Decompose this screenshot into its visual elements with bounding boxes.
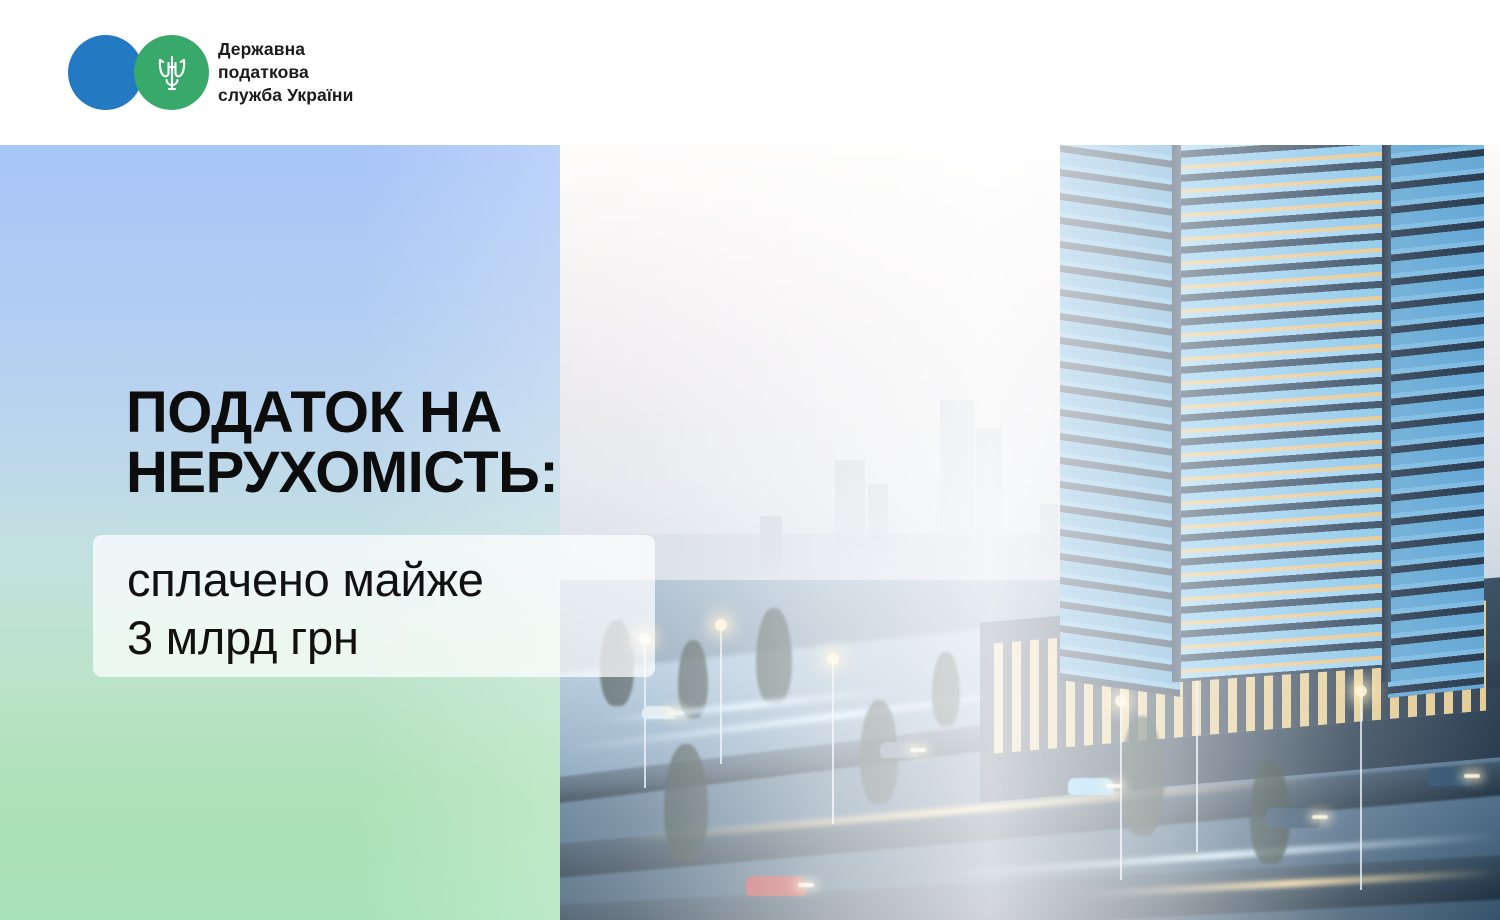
ukraine-trident-icon (155, 51, 189, 95)
glass-tower (1060, 62, 1480, 682)
car (1428, 768, 1472, 786)
tower-face-left (1060, 80, 1180, 697)
street-light (1196, 652, 1198, 852)
tower-corner-edge (1172, 62, 1181, 682)
tree (932, 652, 960, 726)
header-bar: Державна податкова служба України (0, 0, 1500, 145)
agency-name: Державна податкова служба України (218, 38, 353, 107)
subtitle-text: сплачено майже 3 млрд грн (127, 551, 655, 668)
blue-circle (68, 35, 143, 110)
tower-floors (1060, 80, 1180, 697)
subtitle-panel: сплачено майже 3 млрд грн (93, 535, 655, 677)
tower-floors (1388, 108, 1484, 698)
tree (756, 608, 792, 704)
page-title: ПОДАТОК НА НЕРУХОМІСТЬ: (126, 383, 558, 502)
tower-face-right (1388, 108, 1484, 698)
poster-canvas: Державна податкова служба України ПОДАТО… (0, 0, 1500, 920)
street-light (832, 658, 834, 824)
agency-logo[interactable]: Державна податкова служба України (68, 35, 353, 110)
skyline-tower (1040, 504, 1058, 574)
street-light (1360, 690, 1362, 890)
logo-circles (68, 35, 208, 110)
car (1068, 778, 1114, 795)
skyline-tower (976, 428, 1002, 560)
car (1266, 808, 1320, 828)
skyline-tower (940, 400, 974, 560)
car (880, 742, 918, 758)
skyline-tower (868, 484, 888, 572)
street-light (1120, 700, 1122, 880)
tower-corner-edge (1382, 102, 1391, 682)
car (746, 876, 806, 896)
tree (664, 744, 708, 862)
tree (1120, 716, 1164, 836)
skyline-tower (760, 516, 782, 578)
skyline-tower (835, 460, 865, 570)
street-light (720, 624, 722, 764)
green-circle (134, 35, 209, 110)
